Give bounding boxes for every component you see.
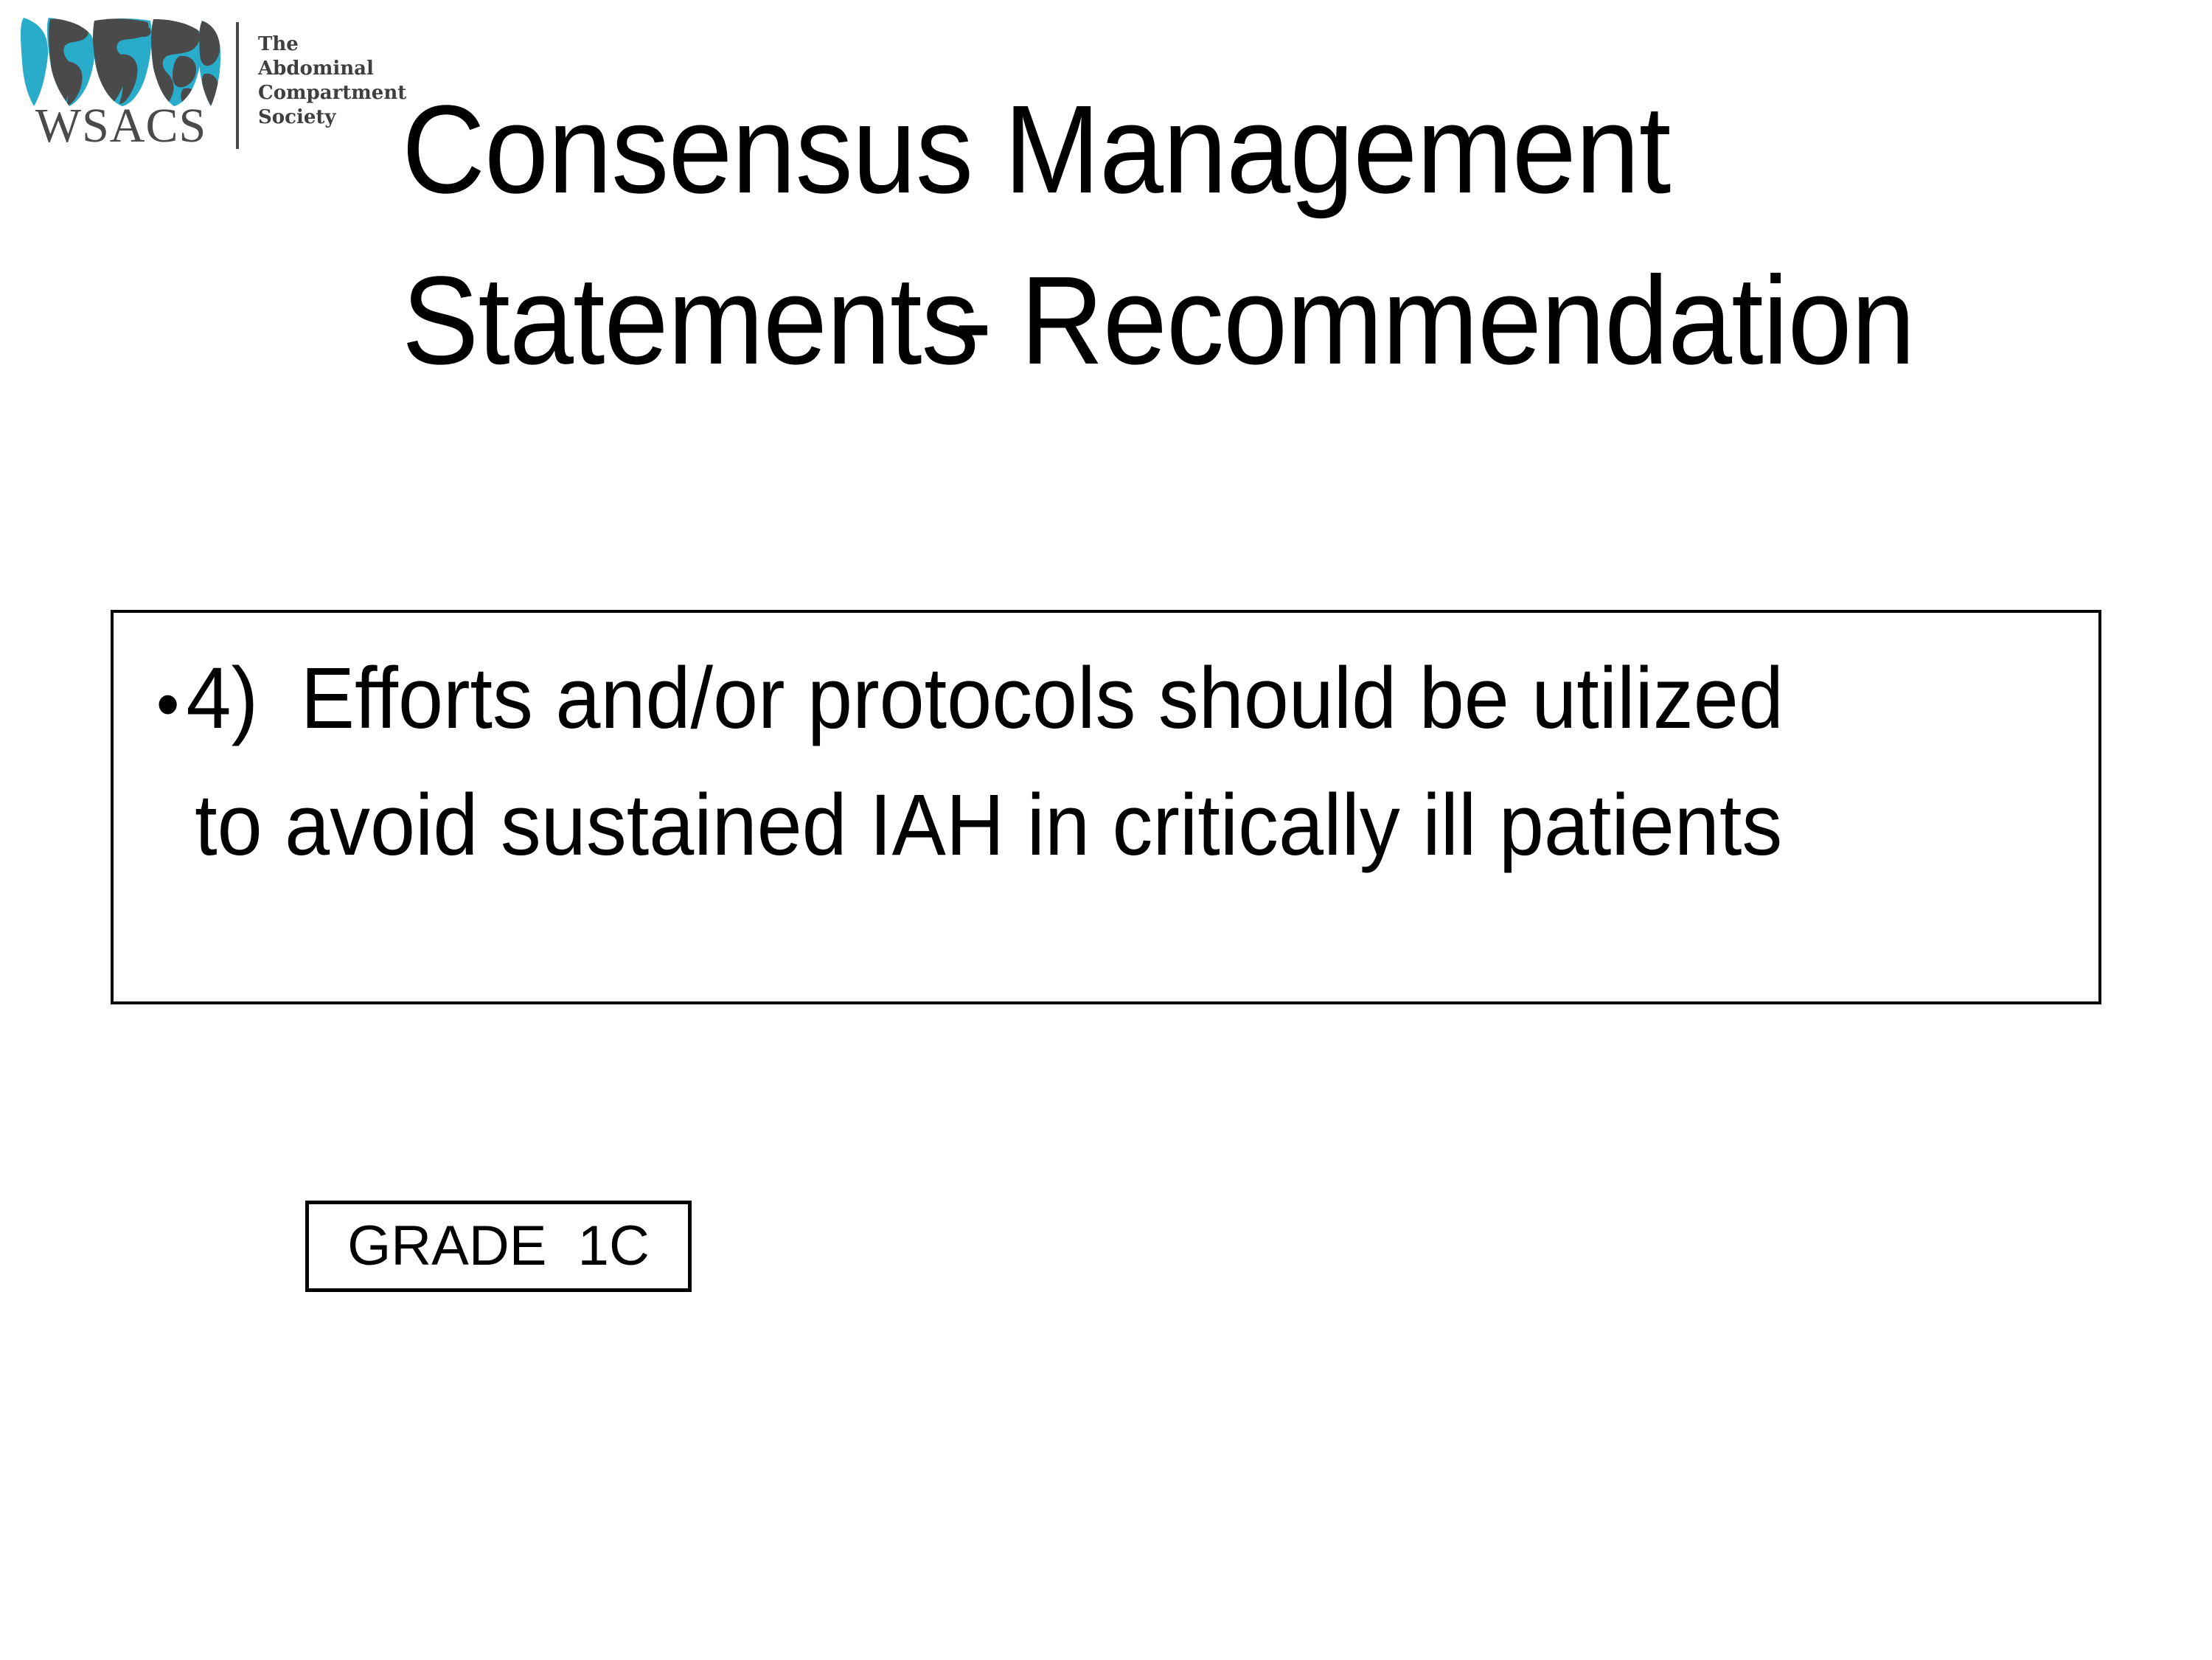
logo-divider bbox=[236, 22, 239, 149]
slide-title-line-2: Statements- Recommendation bbox=[402, 265, 2166, 376]
slide-title-line-1: Consensus Management bbox=[402, 94, 2166, 205]
statement-bullet-row: •4)Efforts and/or protocols should be ut… bbox=[156, 635, 1939, 762]
wsacs-wordmark: WSACS bbox=[21, 102, 221, 150]
wsacs-globe-icon bbox=[21, 16, 221, 108]
slide-title-line-2-suffix: Recommendation bbox=[989, 251, 1914, 391]
presentation-slide: WSACS The Abdominal Compartment Society … bbox=[0, 0, 2212, 1660]
statement-number: 4) bbox=[187, 635, 259, 762]
statement-line-2: to avoid sustained IAH in critically ill… bbox=[195, 762, 1939, 889]
slide-title: Consensus Management Statements- Recomme… bbox=[402, 94, 2166, 376]
grade-label: GRADE 1C bbox=[309, 1217, 688, 1276]
slide-title-dash: - bbox=[954, 265, 992, 376]
society-name-line-2: Abdominal bbox=[258, 57, 428, 81]
wsacs-logo: WSACS The Abdominal Compartment Society bbox=[21, 16, 397, 153]
society-name-line-1: The bbox=[258, 32, 428, 57]
statement-line-1: Efforts and/or protocols should be utili… bbox=[301, 650, 1784, 747]
statement-box: •4)Efforts and/or protocols should be ut… bbox=[111, 610, 2101, 1004]
grade-box: GRADE 1C bbox=[305, 1201, 692, 1292]
slide-title-line-2-text: Statements bbox=[402, 251, 978, 391]
wsacs-logo-mark: WSACS bbox=[21, 16, 221, 149]
statement-text: •4)Efforts and/or protocols should be ut… bbox=[156, 635, 1939, 889]
bullet-icon: • bbox=[156, 661, 179, 748]
